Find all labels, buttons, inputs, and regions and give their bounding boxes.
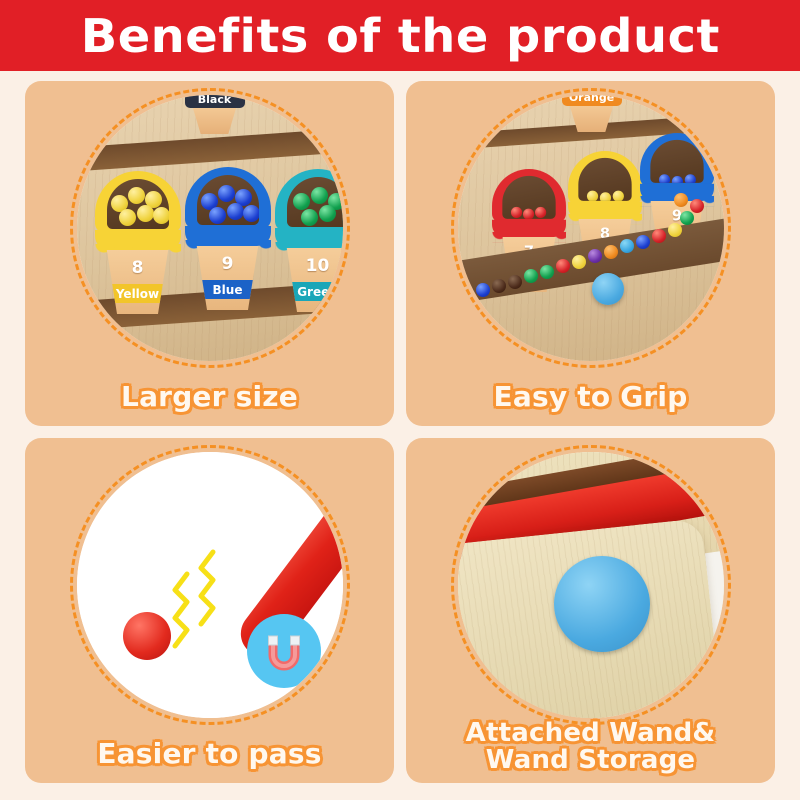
cone-scallop: [185, 226, 271, 246]
cone-number: 9: [222, 254, 234, 274]
benefit-card-larger-size[interactable]: Black: [25, 81, 394, 426]
mini-cone-body: [192, 108, 238, 134]
cone-body: 10 Green: [286, 248, 343, 312]
blue-knob: [554, 556, 650, 652]
cone-cavity: [107, 179, 169, 229]
cone-yellow: 8 Yellow: [95, 171, 181, 314]
cone-scoop: [95, 171, 181, 233]
blue-knob: [592, 273, 624, 305]
bead-cluster-yellow: [107, 179, 169, 229]
benefit-card-attached-wand-storage[interactable]: Attached Wand& Wand Storage: [406, 438, 775, 783]
cone-scoop: [275, 169, 343, 231]
caption-larger-size: Larger size: [25, 382, 394, 412]
photo-ring-easy-to-grip: Orange: [451, 88, 731, 368]
cone-color-label: Yellow: [99, 284, 177, 303]
product-photo-easy-to-grip: Orange: [458, 95, 724, 361]
cone-scoop: [185, 167, 271, 229]
infographic-page: Benefits of the product Black: [0, 0, 800, 800]
photo-ring-easier-to-pass: [70, 445, 350, 725]
caption-line-2: Wand Storage: [406, 747, 775, 775]
cone-scallop: [95, 230, 181, 250]
loose-bead-row: [458, 95, 724, 361]
cone-cavity: [197, 175, 259, 225]
product-photo-larger-size: Black: [77, 95, 343, 361]
bead-cluster-green: [287, 177, 343, 227]
product-photo-attached-wand-storage: [458, 452, 724, 718]
cone-cavity: [287, 177, 343, 227]
cone-green: 10 Green: [275, 169, 343, 312]
caption-easier-to-pass: Easier to pass: [25, 739, 394, 769]
cone-color-label: Blue: [189, 280, 267, 299]
benefits-grid: Black: [25, 81, 775, 783]
header-banner: Benefits of the product: [0, 0, 800, 71]
cone-blue: 9 Blue: [185, 167, 271, 310]
photo-ring-larger-size: Black: [70, 88, 350, 368]
caption-easy-to-grip: Easy to Grip: [406, 382, 775, 412]
cone-scallop: [275, 228, 343, 248]
cone-body: 9 Blue: [196, 246, 260, 310]
benefit-card-easy-to-grip[interactable]: Orange: [406, 81, 775, 426]
mini-cone-black: Black: [185, 95, 245, 134]
photo-ring-attached-wand-storage: [451, 445, 731, 725]
product-illustration-easier-to-pass: [77, 452, 343, 718]
mini-cone-label: Black: [185, 95, 245, 108]
magnet-icon: [247, 614, 321, 688]
caption-line-1: Attached Wand&: [406, 720, 775, 748]
cone-number: 8: [132, 258, 144, 278]
benefit-card-easier-to-pass[interactable]: Easier to pass: [25, 438, 394, 783]
page-title: Benefits of the product: [80, 13, 719, 59]
caption-attached-wand-storage: Attached Wand& Wand Storage: [406, 720, 775, 775]
cone-number: 10: [306, 256, 330, 276]
bead-cluster-blue: [197, 175, 259, 225]
cone-color-label: Green: [279, 282, 343, 301]
cone-body: 8 Yellow: [106, 250, 170, 314]
red-bead: [123, 612, 171, 660]
